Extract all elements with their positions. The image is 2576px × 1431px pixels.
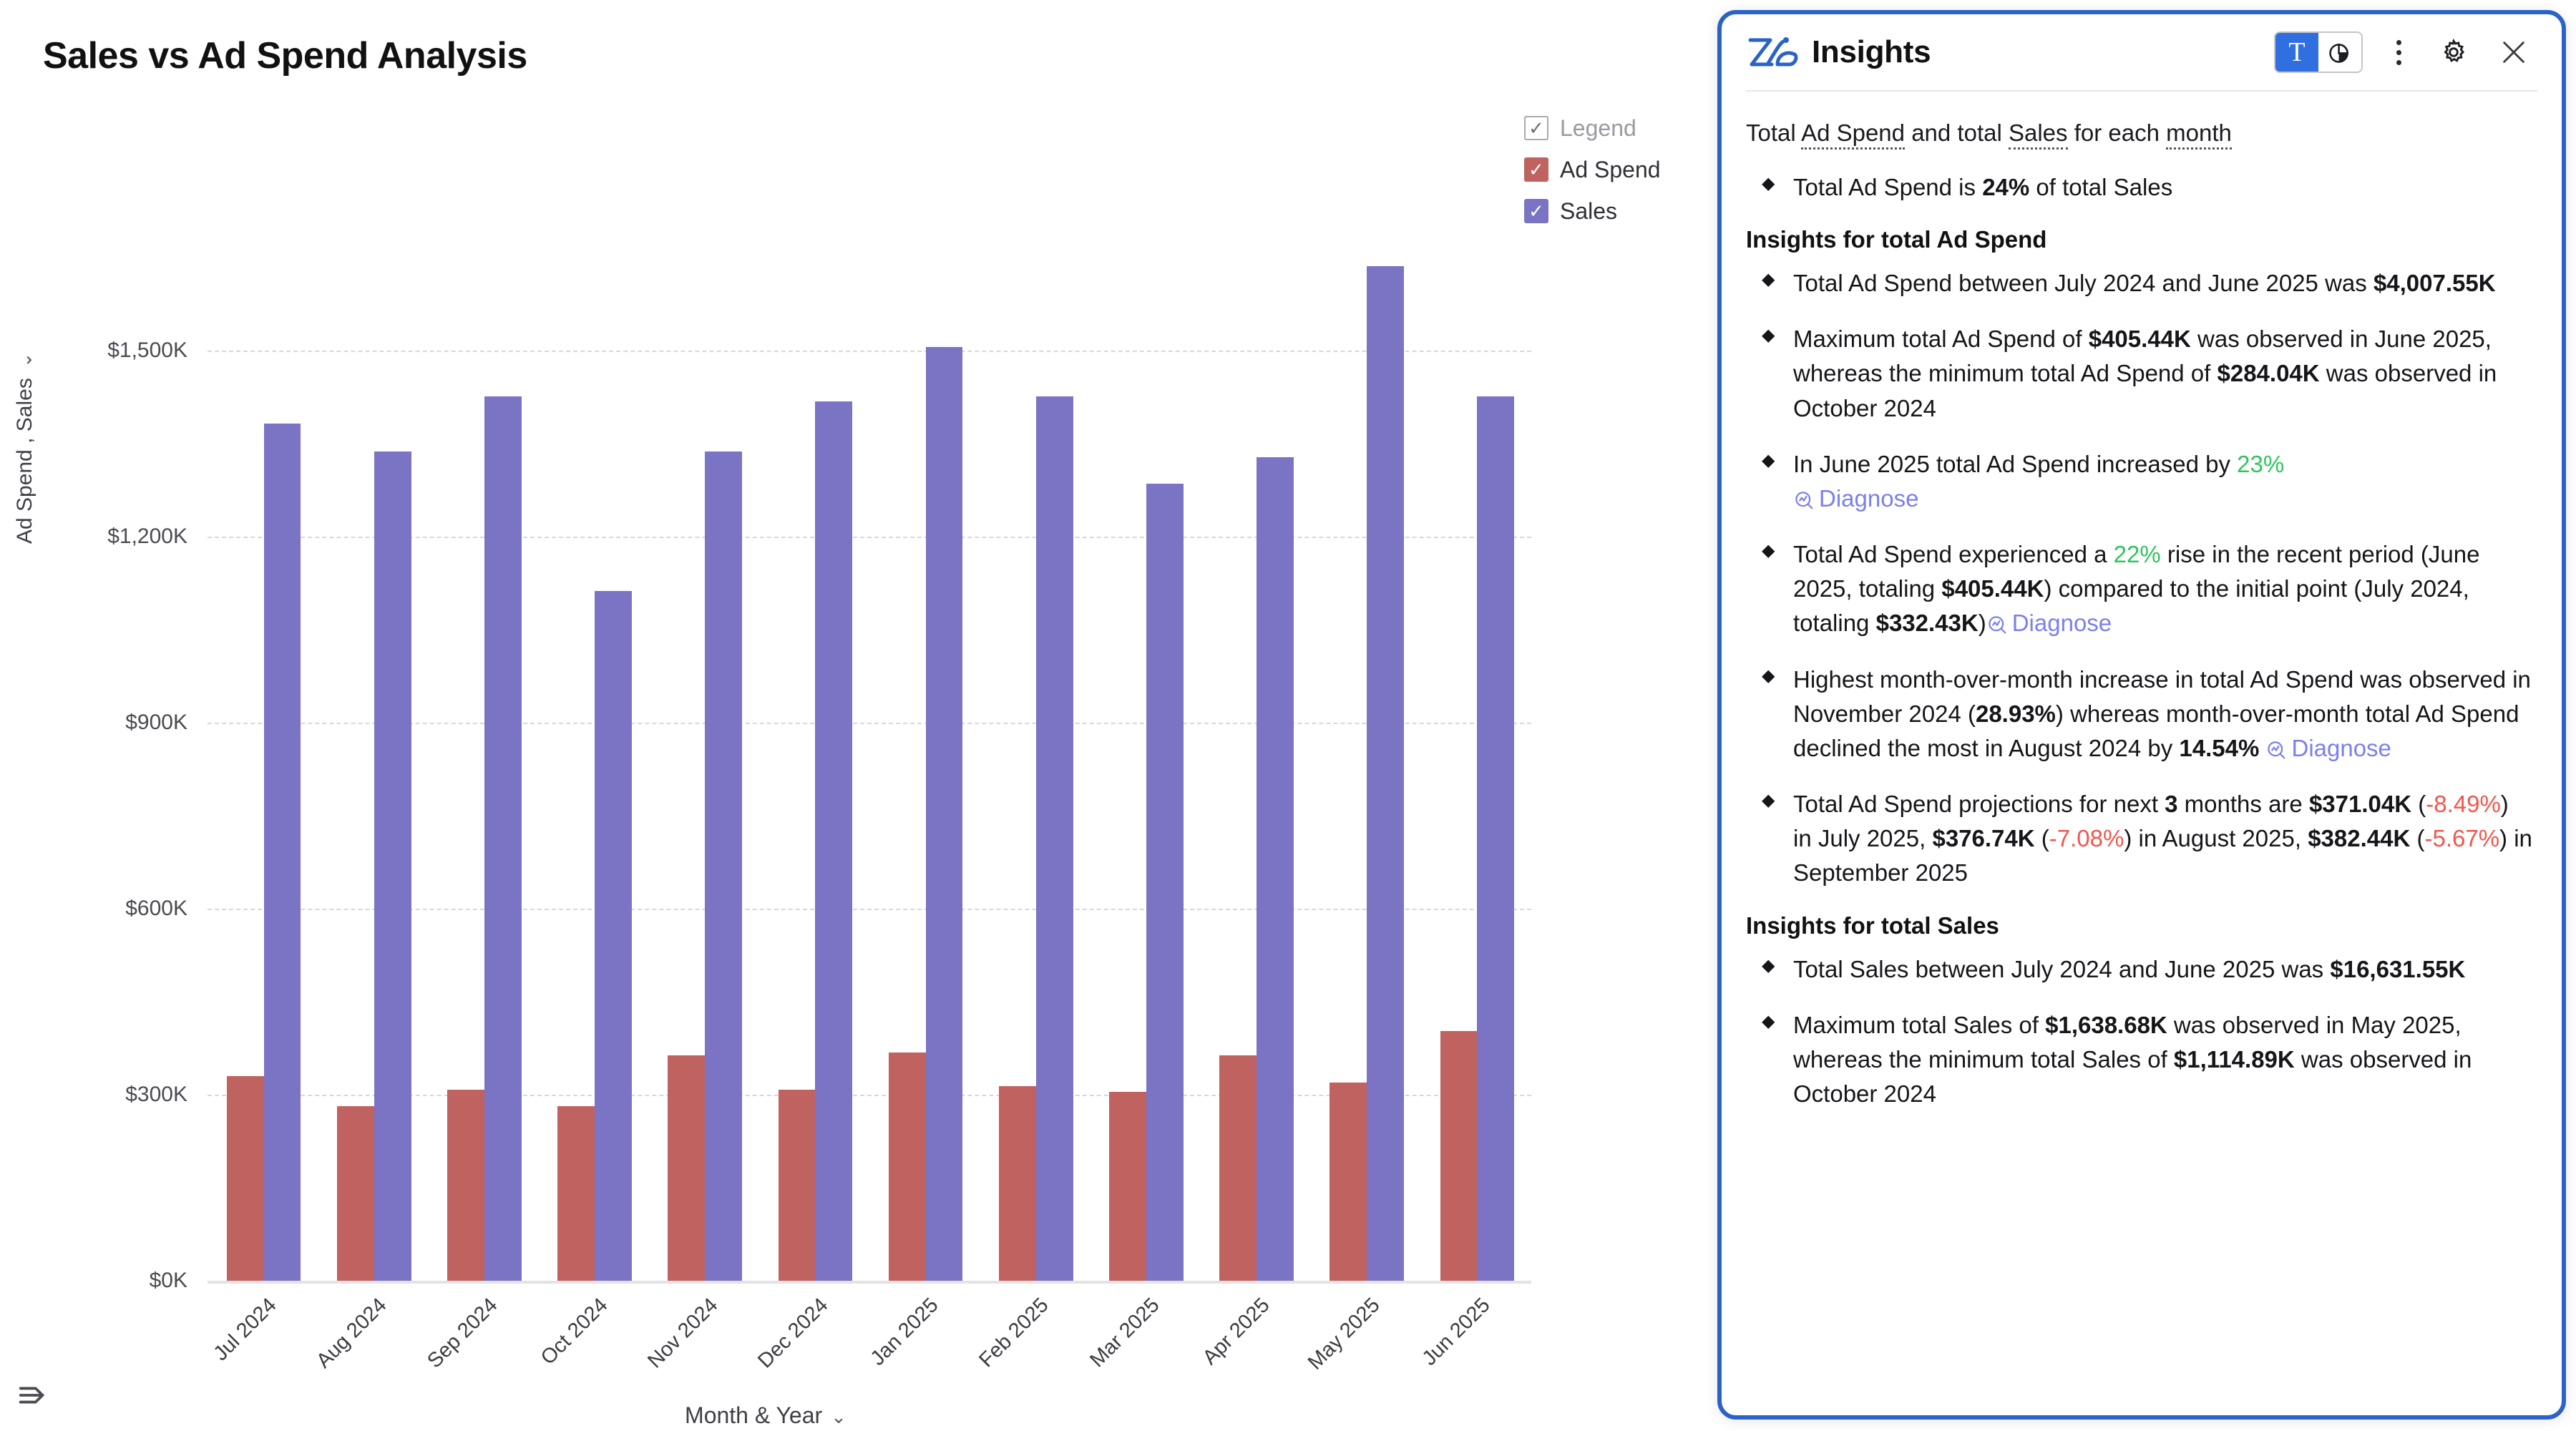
b3-pre: In June 2025 total Ad Spend increased by xyxy=(1793,451,2237,477)
x-axis-tick-label: Feb 2025 xyxy=(975,1294,1054,1372)
bar-group xyxy=(336,259,413,1282)
list-item: Maximum total Ad Spend of $405.44K was o… xyxy=(1762,322,2533,426)
bar-group xyxy=(997,259,1075,1282)
bar-sales[interactable] xyxy=(1146,484,1184,1282)
bar-ad-spend[interactable] xyxy=(557,1106,595,1282)
b5-v1: 28.93% xyxy=(1976,700,2056,727)
toggle-text-view[interactable]: T xyxy=(2275,33,2318,72)
intro-term-ad-spend[interactable]: Ad Spend xyxy=(1801,119,1905,150)
x-axis-tick-label: May 2025 xyxy=(1304,1294,1385,1374)
insights-body: Total Ad Spend and total Sales for each … xyxy=(1722,92,2562,1415)
legend: ✓Legend✓Ad Spend✓Sales xyxy=(1524,114,1703,239)
checkbox-icon[interactable]: ✓ xyxy=(1524,157,1548,182)
b6-n: 3 xyxy=(2165,791,2177,817)
bar-sales[interactable] xyxy=(1477,396,1514,1282)
s1-pre: Total Sales between July 2024 and June 2… xyxy=(1793,956,2330,982)
bar-sales[interactable] xyxy=(264,424,301,1282)
menu-expand-icon[interactable] xyxy=(10,1372,56,1418)
diagnose-link[interactable]: Diagnose xyxy=(2265,735,2391,761)
pie-chart-icon xyxy=(2328,40,2352,64)
bar-group xyxy=(1218,259,1295,1282)
bar-group xyxy=(887,259,965,1282)
diagnose-label: Diagnose xyxy=(1819,485,1918,512)
b3-pct: 23% xyxy=(2237,451,2284,477)
x-axis-tick-label: Nov 2024 xyxy=(643,1294,723,1373)
x-axis-tick-label: Oct 2024 xyxy=(536,1294,613,1370)
bar-ad-spend[interactable] xyxy=(999,1086,1036,1282)
s2-pre: Maximum total Sales of xyxy=(1793,1012,2045,1038)
intro-p3: for each xyxy=(2068,119,2167,146)
legend-item-label: Sales xyxy=(1560,198,1617,225)
x-axis-tick-label: Dec 2024 xyxy=(753,1294,833,1373)
list-item: Total Ad Spend projections for next 3 mo… xyxy=(1762,787,2533,891)
bar-sales[interactable] xyxy=(926,347,963,1282)
b5-v2: 14.54% xyxy=(2179,735,2259,761)
bar-group xyxy=(1328,259,1405,1282)
diagnose-icon xyxy=(1986,614,2008,635)
bar-sales[interactable] xyxy=(705,451,742,1282)
section-heading-ad-spend: Insights for total Ad Spend xyxy=(1746,226,2533,253)
bar-group xyxy=(446,259,523,1282)
bar-group xyxy=(225,259,303,1282)
list-item: Maximum total Sales of $1,638.68K was ob… xyxy=(1762,1008,2533,1112)
s1-value: $16,631.55K xyxy=(2330,956,2465,982)
b4-pre: Total Ad Spend experienced a xyxy=(1793,541,2114,567)
bar-ad-spend[interactable] xyxy=(1219,1055,1257,1282)
x-axis-title-label: Month & Year xyxy=(685,1402,822,1428)
bar-sales[interactable] xyxy=(815,401,852,1282)
page-title: Sales vs Ad Spend Analysis xyxy=(43,34,527,77)
x-axis-tick-label: Jun 2025 xyxy=(1418,1294,1496,1371)
diagnose-icon xyxy=(2265,739,2287,761)
legend-item-label: Legend xyxy=(1560,115,1636,142)
chevron-down-icon[interactable]: ⌄ xyxy=(14,352,36,368)
legend-item-legend[interactable]: ✓Legend xyxy=(1524,114,1703,142)
bar-sales[interactable] xyxy=(484,396,522,1282)
bar-sales[interactable] xyxy=(595,591,632,1282)
legend-item-label: Ad Spend xyxy=(1560,157,1661,183)
list-item: Total Ad Spend experienced a 22% rise in… xyxy=(1762,537,2533,641)
y-axis-title[interactable]: Ad Spend , Sales⌄ xyxy=(13,352,37,544)
b6-pre: Total Ad Spend projections for next xyxy=(1793,791,2165,817)
diagnose-link[interactable]: Diagnose xyxy=(1793,485,1918,512)
bar-sales[interactable] xyxy=(1257,457,1294,1282)
b2-max: $405.44K xyxy=(2089,326,2191,352)
list-item: Highest month-over-month increase in tot… xyxy=(1762,663,2533,766)
b2-pre: Maximum total Ad Spend of xyxy=(1793,326,2089,352)
bar-group xyxy=(1108,259,1185,1282)
insights-title: Insights xyxy=(1812,34,1931,70)
b6-mid0: months are xyxy=(2178,791,2309,817)
x-axis-title[interactable]: Month & Year⌄ xyxy=(0,1402,1531,1429)
x-axis-tick-label: Jan 2025 xyxy=(867,1294,944,1371)
bar-ad-spend[interactable] xyxy=(668,1055,705,1282)
b6-mid1: in July 2025, xyxy=(1793,825,1932,851)
zia-logo xyxy=(1746,33,1800,72)
insights-header-actions: T xyxy=(2274,31,2533,73)
bar-group xyxy=(1439,259,1516,1282)
kebab-menu-icon[interactable] xyxy=(2384,33,2413,72)
x-axis-line xyxy=(208,1281,1531,1284)
b4-post: ) xyxy=(1979,610,1986,636)
bar-sales[interactable] xyxy=(374,451,411,1282)
intro-p2: and total xyxy=(1905,119,2009,146)
b1-pre: Total Ad Spend between July 2024 and Jun… xyxy=(1793,270,2373,296)
bar-ad-spend[interactable] xyxy=(1440,1031,1478,1282)
summary-post: of total Sales xyxy=(2029,174,2172,200)
section-heading-sales: Insights for total Sales xyxy=(1746,912,2533,939)
s2-max: $1,638.68K xyxy=(2045,1012,2167,1038)
toggle-chart-view[interactable] xyxy=(2318,33,2361,72)
ad-spend-bullets: Total Ad Spend between July 2024 and Jun… xyxy=(1762,266,2533,891)
bar-ad-spend[interactable] xyxy=(1109,1092,1146,1282)
intro-term-sales[interactable]: Sales xyxy=(2009,119,2068,150)
x-axis-tick-label: Mar 2025 xyxy=(1085,1294,1164,1372)
b4-v1: $405.44K xyxy=(1941,575,2044,602)
x-axis-tick-label: Jul 2024 xyxy=(210,1294,282,1366)
summary-pre: Total Ad Spend is xyxy=(1793,174,1982,200)
diagnose-icon xyxy=(1793,489,1815,511)
checkbox-icon[interactable]: ✓ xyxy=(1524,116,1548,140)
bar-ad-spend[interactable] xyxy=(1330,1083,1367,1282)
y-axis-title-label: Ad Spend , Sales xyxy=(13,378,36,544)
diagnose-label: Diagnose xyxy=(2012,610,2112,636)
y-axis-tick-label: $600K xyxy=(125,897,187,921)
intro-term-month[interactable]: month xyxy=(2166,119,2232,150)
y-axis-tick-label: $900K xyxy=(125,710,187,735)
bar-ad-spend[interactable] xyxy=(337,1106,374,1282)
x-axis-tick-label: Aug 2024 xyxy=(313,1294,392,1373)
bar-group xyxy=(556,259,633,1282)
gear-icon[interactable] xyxy=(2434,33,2473,72)
view-toggle[interactable]: T xyxy=(2274,31,2363,73)
list-item: Total Ad Spend is 24% of total Sales xyxy=(1762,170,2533,205)
bar-ad-spend[interactable] xyxy=(227,1076,264,1282)
intro-p1: Total xyxy=(1746,119,1801,146)
text-view-label: T xyxy=(2288,39,2305,66)
bar-ad-spend[interactable] xyxy=(889,1053,926,1282)
b2-min: $284.04K xyxy=(2218,360,2320,386)
checkbox-icon[interactable]: ✓ xyxy=(1524,199,1548,223)
legend-item-ad-spend[interactable]: ✓Ad Spend xyxy=(1524,156,1703,183)
bar-group xyxy=(666,259,743,1282)
list-item: Total Sales between July 2024 and June 2… xyxy=(1762,952,2533,987)
s2-min: $1,114.89K xyxy=(2174,1046,2295,1073)
sales-bullets: Total Sales between July 2024 and June 2… xyxy=(1762,952,2533,1112)
b6-p2: -7.08% xyxy=(2049,825,2124,851)
y-axis-tick-label: $1,200K xyxy=(107,524,187,549)
list-item: In June 2025 total Ad Spend increased by… xyxy=(1762,447,2533,516)
b6-p1: -8.49% xyxy=(2426,791,2501,817)
close-icon[interactable] xyxy=(2494,33,2533,72)
summary-bullets: Total Ad Spend is 24% of total Sales xyxy=(1762,170,2533,205)
diagnose-label: Diagnose xyxy=(2291,735,2391,761)
bar-sales[interactable] xyxy=(1367,266,1404,1282)
summary-value: 24% xyxy=(1982,174,2029,200)
plot-area: Jul 2024Aug 2024Sep 2024Oct 2024Nov 2024… xyxy=(208,258,1531,1282)
bar-group xyxy=(777,259,854,1282)
b6-v2: $376.74K xyxy=(1932,825,2034,851)
legend-item-sales[interactable]: ✓Sales xyxy=(1524,197,1703,225)
b6-p3: -5.67% xyxy=(2424,825,2499,851)
b6-v3: $382.44K xyxy=(2308,825,2410,851)
insights-panel: Insights T xyxy=(1717,10,2566,1420)
y-axis-tick-label: $300K xyxy=(125,1083,187,1107)
bar-ad-spend[interactable] xyxy=(447,1090,484,1282)
b4-v2: $332.43K xyxy=(1876,610,1979,636)
x-axis-tick-label: Apr 2025 xyxy=(1198,1294,1274,1370)
x-axis-tick-label: Sep 2024 xyxy=(423,1294,502,1373)
diagnose-link[interactable]: Diagnose xyxy=(1986,610,2112,636)
chevron-down-icon[interactable]: ⌄ xyxy=(831,1406,847,1428)
insights-intro: Total Ad Spend and total Sales for each … xyxy=(1746,116,2533,150)
bar-ad-spend[interactable] xyxy=(779,1090,816,1282)
b6-v1: $371.04K xyxy=(2309,791,2411,817)
insights-panel-header: Insights T xyxy=(1722,14,2562,90)
bar-sales[interactable] xyxy=(1036,396,1073,1282)
b6-mid2: in August 2025, xyxy=(2132,825,2308,851)
b4-pct: 22% xyxy=(2114,541,2161,567)
b1-value: $4,007.55K xyxy=(2373,270,2496,296)
y-axis-tick-label: $1,500K xyxy=(107,338,187,363)
chart-area: Sales vs Ad Spend Analysis $0K$300K$600K… xyxy=(0,0,1717,1431)
list-item: Total Ad Spend between July 2024 and Jun… xyxy=(1762,266,2533,301)
y-axis-tick-label: $0K xyxy=(150,1269,187,1293)
